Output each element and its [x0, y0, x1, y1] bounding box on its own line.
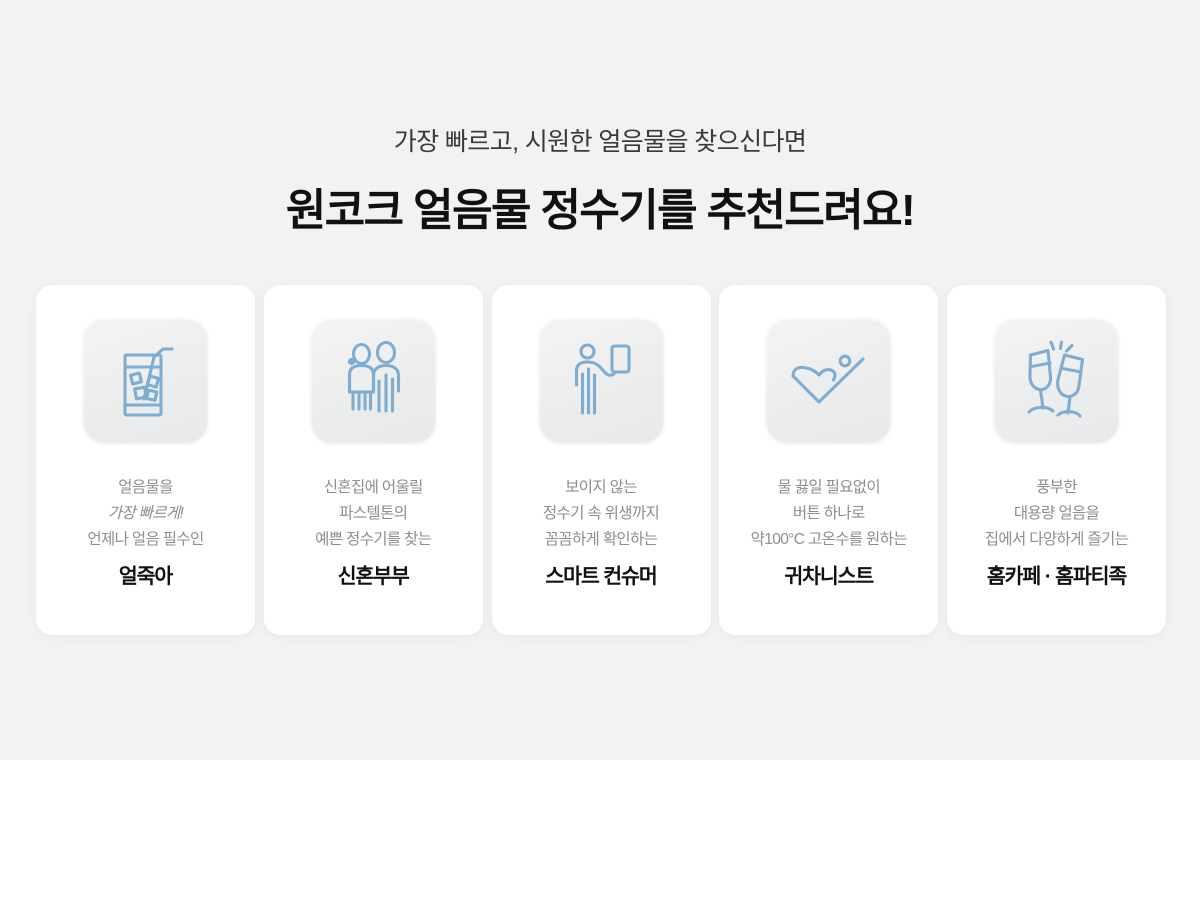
desc-line-2: 버튼 하나로: [751, 501, 907, 527]
promo-page: 가장 빠르고, 시원한 얼음물을 찾으신다면 원코크 얼음물 정수기를 추천드려…: [0, 0, 1200, 910]
desc-line-1: 풍부한: [985, 475, 1128, 501]
desc-line-2: 대용량 얼음을: [985, 501, 1128, 527]
card-title: 귀차니스트: [784, 565, 873, 590]
persona-card[interactable]: 얼음물을 가장 빠르게! 언제나 얼음 필수인 얼죽아: [36, 285, 255, 635]
champagne-toast-icon: [1018, 341, 1096, 421]
desc-line-1: 보이지 않는: [543, 475, 659, 501]
desc-line-1: 얼음물을: [87, 475, 203, 501]
person-with-tablet-icon: [568, 341, 634, 421]
persona-card-row: 얼음물을 가장 빠르게! 언제나 얼음 필수인 얼죽아: [36, 285, 1166, 635]
persona-card[interactable]: 물 끓일 필요없이 버튼 하나로 약100°C 고온수를 원하는 귀차니스트: [719, 285, 938, 635]
iced-drink-glass-icon: [114, 341, 178, 421]
page-title: 원코크 얼음물 정수기를 추천드려요!: [0, 183, 1200, 238]
persona-card[interactable]: 신혼집에 어울릴 파스텔톤의 예쁜 정수기를 찾는 신혼부부: [264, 285, 483, 635]
card-description: 신혼집에 어울릴 파스텔톤의 예쁜 정수기를 찾는: [315, 475, 431, 553]
desc-line-3: 집에서 다양하게 즐기는: [985, 527, 1128, 553]
heading-block: 가장 빠르고, 시원한 얼음물을 찾으신다면 원코크 얼음물 정수기를 추천드려…: [0, 0, 1200, 238]
desc-line-3: 예쁜 정수기를 찾는: [315, 527, 431, 553]
desc-line-2: 가장 빠르게!: [87, 501, 203, 527]
persona-card[interactable]: 보이지 않는 정수기 속 위생까지 꼼꼼하게 확인하는 스마트 컨슈머: [492, 285, 711, 635]
icon-tile: [994, 318, 1119, 443]
desc-line-3: 언제나 얼음 필수인: [87, 527, 203, 553]
desc-line-1: 물 끓일 필요없이: [751, 475, 907, 501]
card-description: 보이지 않는 정수기 속 위생까지 꼼꼼하게 확인하는: [543, 475, 659, 553]
icon-tile: [766, 318, 891, 443]
card-description: 얼음물을 가장 빠르게! 언제나 얼음 필수인: [87, 475, 203, 553]
card-title: 신혼부부: [338, 565, 409, 590]
eyebrow-text: 가장 빠르고, 시원한 얼음물을 찾으신다면: [0, 126, 1200, 159]
card-title: 홈카페 · 홈파티족: [987, 565, 1126, 590]
desc-line-2: 파스텔톤의: [315, 501, 431, 527]
desc-line-3: 약100°C 고온수를 원하는: [751, 527, 907, 553]
icon-tile: [311, 318, 436, 443]
icon-tile: [83, 318, 208, 443]
card-description: 물 끓일 필요없이 버튼 하나로 약100°C 고온수를 원하는: [751, 475, 907, 553]
card-title: 스마트 컨슈머: [545, 565, 656, 590]
card-description: 풍부한 대용량 얼음을 집에서 다양하게 즐기는: [985, 475, 1128, 553]
hand-tap-check-icon: [789, 349, 869, 413]
desc-line-3: 꼼꼼하게 확인하는: [543, 527, 659, 553]
couple-icon: [336, 341, 410, 421]
desc-line-1: 신혼집에 어울릴: [315, 475, 431, 501]
desc-line-2: 정수기 속 위생까지: [543, 501, 659, 527]
icon-tile: [539, 318, 664, 443]
persona-card[interactable]: 풍부한 대용량 얼음을 집에서 다양하게 즐기는 홈카페 · 홈파티족: [947, 285, 1166, 635]
card-title: 얼죽아: [119, 565, 172, 590]
